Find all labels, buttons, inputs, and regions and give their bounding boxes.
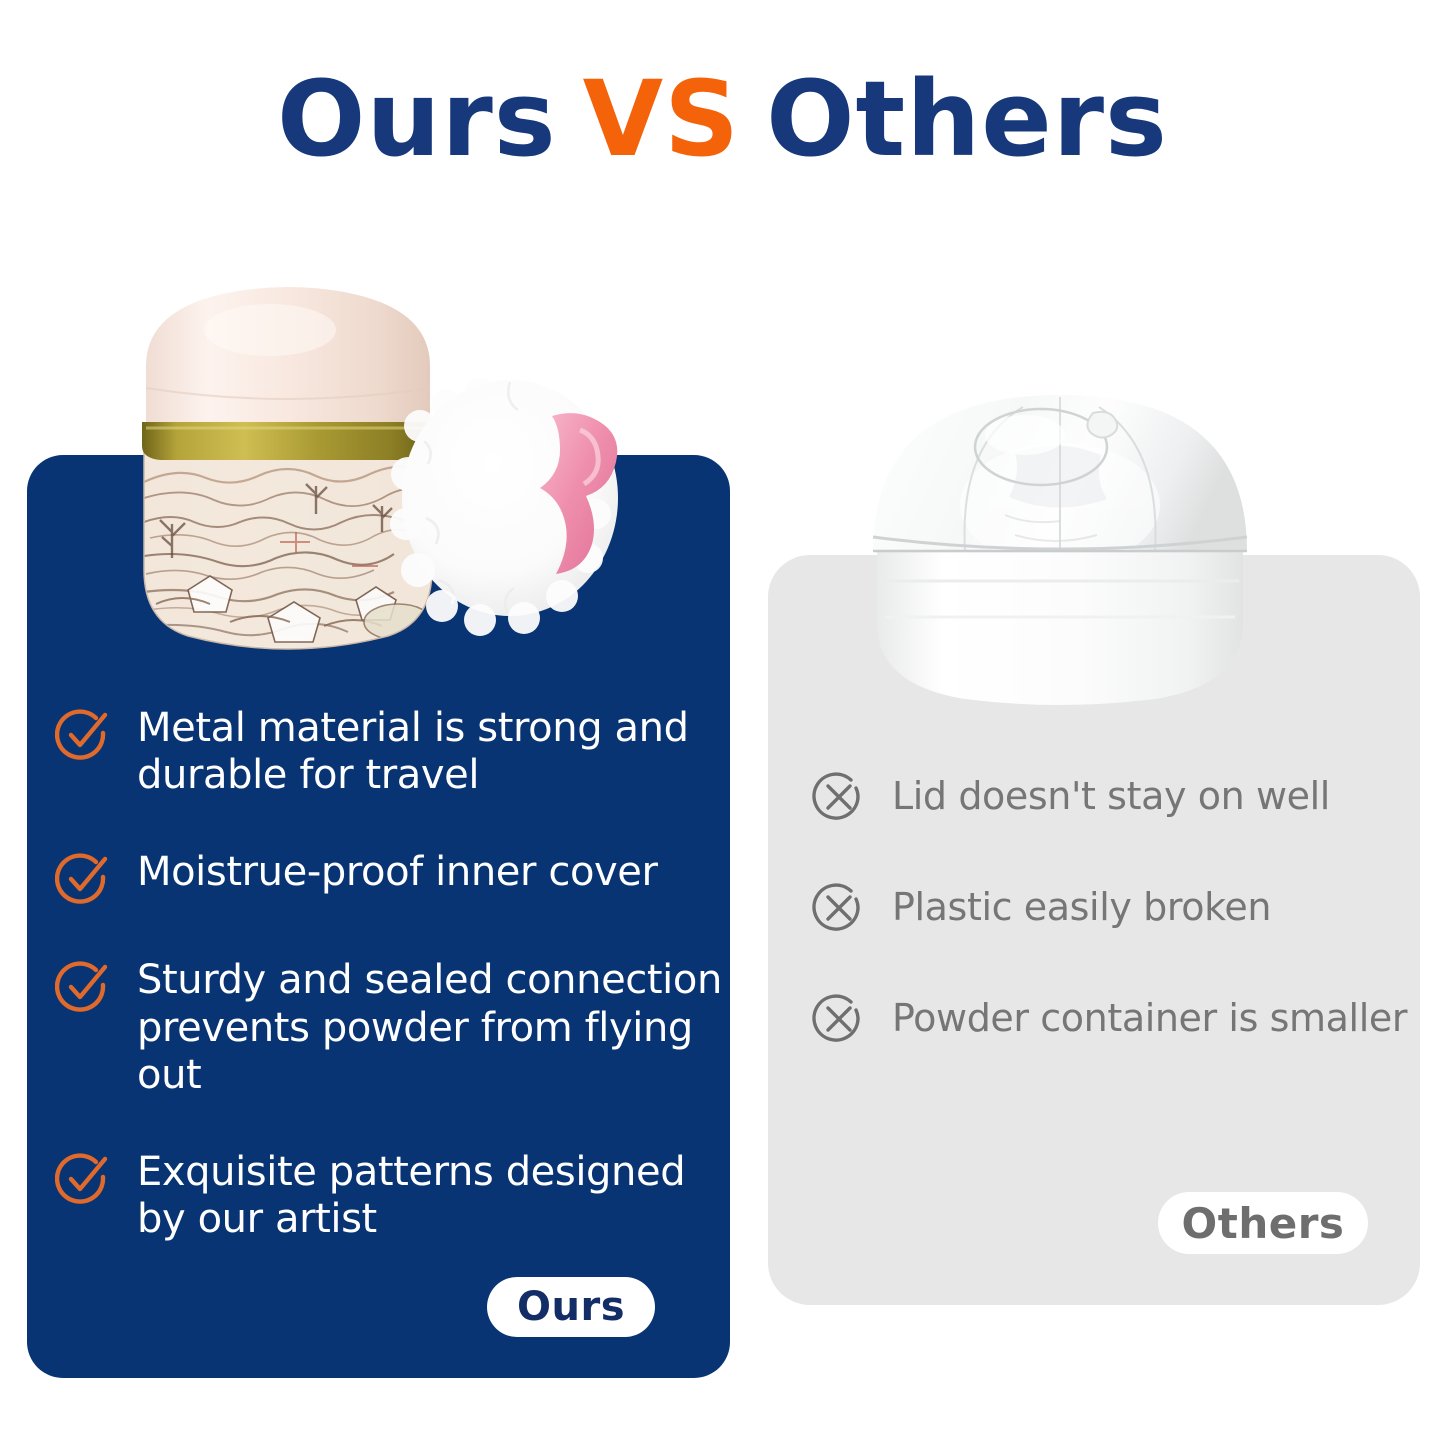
others-badge: Others <box>1158 1192 1368 1254</box>
check-circle-icon <box>55 851 111 907</box>
ours-product-image <box>120 270 710 670</box>
list-item-label: Lid doesn't stay on well <box>892 775 1330 819</box>
list-item: Lid doesn't stay on well <box>812 770 1412 824</box>
list-item: Metal material is strong and durable for… <box>55 705 745 799</box>
x-circle-icon <box>812 992 866 1046</box>
ours-badge: Ours <box>487 1277 655 1337</box>
title-word-ours: Ours <box>277 58 557 180</box>
x-circle-icon <box>812 881 866 935</box>
list-item-label: Metal material is strong and durable for… <box>137 705 745 799</box>
list-item-label: Moistrue-proof inner cover <box>137 849 658 896</box>
x-circle-icon <box>812 770 866 824</box>
list-item: Sturdy and sealed connection prevents po… <box>55 957 745 1099</box>
title-word-vs: VS <box>583 58 740 180</box>
check-circle-icon <box>55 707 111 763</box>
list-item: Moistrue-proof inner cover <box>55 849 745 907</box>
list-item-label: Sturdy and sealed connection prevents po… <box>137 957 745 1099</box>
list-item: Plastic easily broken <box>812 881 1412 935</box>
check-circle-icon <box>55 959 111 1015</box>
ours-feature-list: Metal material is strong and durable for… <box>55 705 745 1243</box>
others-drawback-list: Lid doesn't stay on well Plastic easily … <box>812 770 1412 1046</box>
check-circle-icon <box>55 1151 111 1207</box>
list-item-label: Exquisite patterns designed by our artis… <box>137 1149 745 1243</box>
list-item-label: Plastic easily broken <box>892 886 1271 930</box>
page-title: OursVSOthers <box>0 62 1445 176</box>
others-product-image <box>855 355 1265 720</box>
list-item-label: Powder container is smaller <box>892 997 1407 1041</box>
list-item: Powder container is smaller <box>812 992 1412 1046</box>
list-item: Exquisite patterns designed by our artis… <box>55 1149 745 1243</box>
title-word-others: Others <box>766 58 1168 180</box>
